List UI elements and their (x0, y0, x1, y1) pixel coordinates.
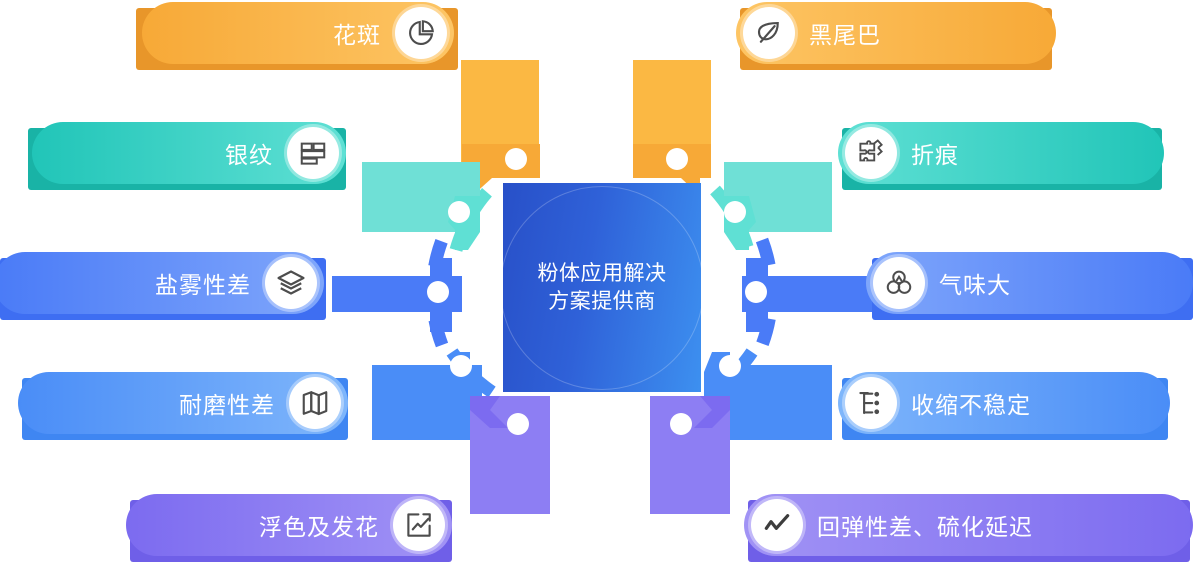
node-label: 盐雾性差 (155, 266, 251, 300)
recycle-icon (873, 257, 925, 309)
node-label: 浮色及发花 (259, 508, 379, 542)
node-label: 花斑 (333, 16, 381, 50)
center-node[interactable]: 粉体应用解决 方案提供商 (503, 183, 701, 392)
node-label: 折痕 (911, 136, 959, 170)
sitemap-icon (845, 377, 897, 429)
node-zhe-hen[interactable]: 折痕 (838, 122, 1164, 184)
node-yin-wen[interactable]: 银纹 (32, 122, 346, 184)
node-label: 银纹 (225, 136, 273, 170)
line-chart-icon (751, 499, 803, 551)
node-label: 收缩不稳定 (911, 386, 1031, 420)
node-label: 回弹性差、硫化延迟 (817, 508, 1033, 542)
puzzle-icon (845, 127, 897, 179)
node-label: 黑尾巴 (809, 16, 881, 50)
map-icon (289, 377, 341, 429)
connector-yin-wen (362, 162, 480, 250)
brick-wall-icon (287, 127, 339, 179)
node-shou-suo-bu-wen-ding[interactable]: 收缩不稳定 (838, 372, 1170, 434)
node-yan-wu-xing-cha[interactable]: 盐雾性差 (0, 252, 324, 314)
diagram-canvas: 粉体应用解决 方案提供商 花斑 黑尾巴 (0, 0, 1193, 577)
node-hui-tan-xing-cha[interactable]: 回弹性差、硫化延迟 (744, 494, 1193, 556)
connector-yan-wu (332, 258, 462, 332)
pie-chart-icon (395, 7, 447, 59)
node-hei-wei-ba[interactable]: 黑尾巴 (736, 2, 1056, 64)
node-nai-mo-xing-cha[interactable]: 耐磨性差 (18, 372, 348, 434)
center-title: 粉体应用解决 方案提供商 (503, 183, 701, 392)
growth-chart-icon (393, 499, 445, 551)
connector-nai-mo (372, 352, 482, 440)
node-label: 气味大 (939, 266, 1011, 300)
connector-hei-wei-ba (633, 60, 711, 196)
layers-icon (265, 257, 317, 309)
connector-qi-wei (742, 258, 872, 332)
node-label: 耐磨性差 (179, 386, 275, 420)
connector-hui-tan (650, 396, 730, 514)
node-qi-wei-da[interactable]: 气味大 (866, 252, 1193, 314)
leaf-icon (743, 7, 795, 59)
node-fu-se-ji-fa-hua[interactable]: 浮色及发花 (126, 494, 452, 556)
connector-zhe-hen (724, 162, 832, 250)
node-hua-ban[interactable]: 花斑 (142, 2, 454, 64)
connector-fu-se (470, 396, 550, 514)
